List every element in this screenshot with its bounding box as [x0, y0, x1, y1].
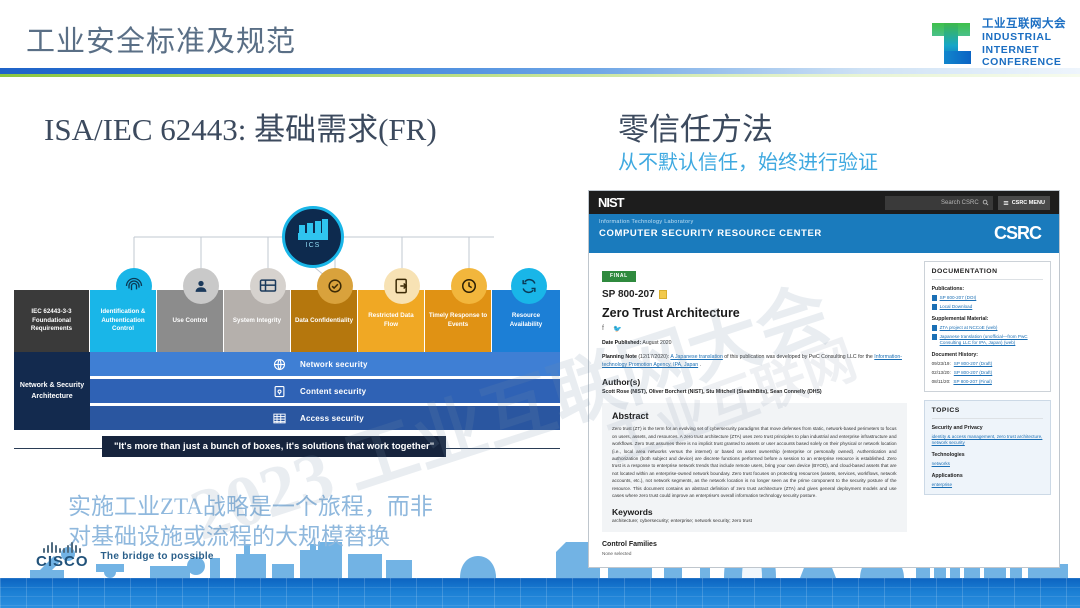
conference-name-en-2: INTERNET: [982, 44, 1066, 56]
planning-note-text: of this publication was developed by PwC…: [724, 354, 864, 360]
search-placeholder: Search CSRC: [941, 200, 979, 206]
content-lock-icon: [266, 379, 292, 403]
keywords-label: Keywords: [612, 507, 897, 517]
footer-band: [0, 578, 1080, 608]
history-label: Document History:: [932, 352, 1043, 358]
security-architecture-label: Network & Security Architecture: [14, 352, 90, 430]
search-icon: [982, 199, 989, 206]
supplemental-link-japanese-label: Japanese translation (unofficial—from Pw…: [940, 334, 1043, 347]
supplemental-link-nccoe[interactable]: ZTA project at NCCoE (web): [932, 325, 1043, 332]
right-section-heading: 零信任方法: [618, 104, 773, 149]
cisco-bars-icon: [43, 542, 81, 553]
network-shield-icon: [266, 352, 292, 376]
control-families-value: None selected: [602, 551, 907, 556]
topic-applications-links: enterprise: [932, 482, 952, 488]
conference-logo-mark-icon: [928, 19, 974, 67]
security-row-content-label: Content security: [300, 387, 366, 396]
publication-id-text: SP 800-207: [602, 289, 655, 300]
publication-side-column: DOCUMENTATION Publications: SP 800-207 (…: [920, 253, 1059, 568]
diagram-quote-wrap: "It's more than just a bunch of boxes, i…: [14, 436, 560, 460]
topic-security-privacy-links: identity & access management, zero trust…: [932, 434, 1043, 447]
pdf-icon: [932, 334, 937, 340]
right-section-subheading: 从不默认信任，始终进行验证: [618, 146, 878, 175]
hamburger-icon: [1003, 200, 1009, 206]
refresh-icon: [511, 268, 547, 304]
nist-body: FINAL SP 800-207 Zero Trust Architecture…: [589, 253, 1059, 568]
history-item-3-label: SP 800-207 (Final): [953, 379, 991, 385]
planning-note-text3: .: [700, 362, 701, 368]
security-row-network: Network security: [90, 352, 560, 376]
publication-main-column: FINAL SP 800-207 Zero Trust Architecture…: [589, 253, 920, 568]
publication-link-doi[interactable]: SP 800-207 (DOI): [932, 295, 1043, 302]
access-grid-icon: [266, 406, 292, 430]
history-item-3-date: 08/11/20:: [932, 379, 951, 385]
topic-security-privacy-value[interactable]: identity & access management, zero trust…: [932, 434, 1043, 447]
publications-label: Publications:: [932, 286, 1043, 292]
topics-card: TOPICS Security and Privacy identity & a…: [924, 400, 1051, 495]
planning-note-label: Planning Note: [602, 354, 637, 360]
date-published-line: Date Published: August 2020: [602, 339, 907, 347]
iec62443-diagram: ICS IEC 62443-3-3 Foundational Require: [14, 206, 560, 466]
topics-header: TOPICS: [932, 407, 1043, 419]
history-item-1[interactable]: 09/23/19:SP 800-207 (Draft): [932, 361, 1043, 367]
publication-link-doi-label: SP 800-207 (DOI): [940, 295, 977, 301]
twitter-icon[interactable]: 🐦: [613, 325, 622, 333]
cisco-logo: CISCO The bridge to possible: [36, 542, 214, 570]
conference-name-en-1: INDUSTRIAL: [982, 31, 1066, 43]
keywords-value: architecture; cybersecurity; enterprise;…: [612, 519, 897, 524]
nist-csrc-screenshot: NIST Search CSRC CSRC MENU Information T…: [588, 190, 1060, 568]
gear-check-icon: [317, 268, 353, 304]
csrc-title: COMPUTER SECURITY RESOURCE CENTER: [599, 228, 1049, 239]
history-item-1-date: 09/23/19:: [932, 361, 951, 367]
publication-title: Zero Trust Architecture: [602, 306, 907, 320]
user-access-icon: [183, 268, 219, 304]
supplemental-label: Supplemental Material:: [932, 316, 1043, 322]
abstract-text: Zero trust (ZT) is the term for an evolv…: [612, 425, 897, 499]
history-item-2-label: SP 800-207 (Draft): [954, 370, 992, 376]
publication-link-local[interactable]: Local Download: [932, 304, 1043, 311]
topic-applications-value[interactable]: enterprise: [932, 482, 1043, 488]
itl-label: Information Technology Laboratory: [599, 219, 1049, 225]
clock-icon: [451, 268, 487, 304]
csrc-logo: CSRC: [994, 223, 1041, 244]
authors-value: Scott Rose (NIST), Oliver Borchert (NIST…: [602, 389, 907, 395]
nist-banner: Information Technology Laboratory COMPUT…: [589, 214, 1059, 253]
cisco-tagline: The bridge to possible: [101, 551, 214, 562]
security-row-access: Access security: [90, 406, 560, 430]
supplemental-link-nccoe-label: ZTA project at NCCoE (web): [940, 325, 998, 331]
search-input[interactable]: Search CSRC: [885, 196, 993, 210]
topic-technologies-label: Technologies: [932, 452, 1043, 458]
conference-name-en-3: CONFERENCE: [982, 56, 1066, 68]
pdf-icon[interactable]: [659, 290, 667, 299]
publication-id: SP 800-207: [602, 289, 907, 300]
download-icon: [932, 304, 937, 310]
pdf-icon: [932, 295, 937, 301]
fr-badge-row: [14, 268, 560, 308]
history-item-2[interactable]: 02/13/20:SP 800-207 (Draft): [932, 370, 1043, 376]
header-divider-green: [0, 74, 1080, 77]
system-integrity-icon: [250, 268, 286, 304]
security-architecture-grid: Network & Security Architecture Network …: [14, 352, 560, 430]
left-section-heading: ISA/IEC 62443: 基础需求(FR): [44, 104, 437, 149]
fingerprint-icon: [116, 268, 152, 304]
documentation-card: DOCUMENTATION Publications: SP 800-207 (…: [924, 261, 1051, 392]
csrc-menu-label: CSRC MENU: [1012, 200, 1045, 206]
planning-note-text2: the: [866, 354, 873, 360]
japanese-translation-link[interactable]: A Japanese translation: [670, 354, 723, 360]
csrc-menu-button[interactable]: CSRC MENU: [998, 196, 1050, 210]
ics-hub-icon: ICS: [282, 206, 344, 268]
topic-security-privacy-label: Security and Privacy: [932, 425, 1043, 431]
authors-label: Author(s): [602, 377, 907, 387]
diagram-quote: "It's more than just a bunch of boxes, i…: [102, 436, 446, 457]
nist-top-bar: NIST Search CSRC CSRC MENU: [589, 191, 1059, 214]
planning-note-line: Planning Note (12/17/2020): A Japanese t…: [602, 353, 907, 369]
share-row: f 🐦: [602, 325, 907, 333]
conference-name-cn: 工业互联网大会: [982, 18, 1066, 31]
date-published-value: August 2020: [642, 340, 671, 346]
page-title: 工业安全标准及规范: [26, 18, 296, 60]
security-row-network-label: Network security: [300, 360, 368, 369]
supplemental-link-japanese[interactable]: Japanese translation (unofficial—from Pw…: [932, 334, 1043, 347]
history-item-1-label: SP 800-207 (Draft): [954, 361, 992, 367]
history-item-2-date: 02/13/20:: [932, 370, 951, 376]
data-flow-icon: [384, 268, 420, 304]
planning-note-date: (12/17/2020):: [638, 354, 669, 360]
pdf-icon: [932, 325, 937, 331]
topic-technologies-links: networks: [932, 461, 950, 467]
conference-logo-text: 工业互联网大会 INDUSTRIAL INTERNET CONFERENCE: [982, 18, 1066, 68]
facebook-icon[interactable]: f: [602, 325, 604, 333]
abstract-label: Abstract: [612, 411, 897, 421]
publication-link-local-label: Local Download: [940, 304, 973, 310]
history-item-3[interactable]: 08/11/20:SP 800-207 (Final): [932, 379, 1043, 385]
topic-applications-label: Applications: [932, 473, 1043, 479]
documentation-header: DOCUMENTATION: [932, 268, 1043, 280]
ics-hub-label: ICS: [306, 242, 321, 249]
status-badge: FINAL: [602, 271, 636, 282]
cisco-wordmark: CISCO: [36, 553, 89, 570]
date-published-label: Date Published:: [602, 340, 641, 346]
topic-technologies-value[interactable]: networks: [932, 461, 1043, 467]
nist-logo: NIST: [598, 195, 624, 210]
control-families-label: Control Families: [602, 541, 907, 548]
bottom-left-statement-line1: 实施工业ZTA战略是一个旅程，而非: [68, 492, 548, 522]
security-row-content: Content security: [90, 379, 560, 403]
conference-logo: 工业互联网大会 INDUSTRIAL INTERNET CONFERENCE: [928, 18, 1066, 68]
security-row-access-label: Access security: [300, 414, 364, 423]
abstract-box: Abstract Zero trust (ZT) is the term for…: [602, 403, 907, 531]
